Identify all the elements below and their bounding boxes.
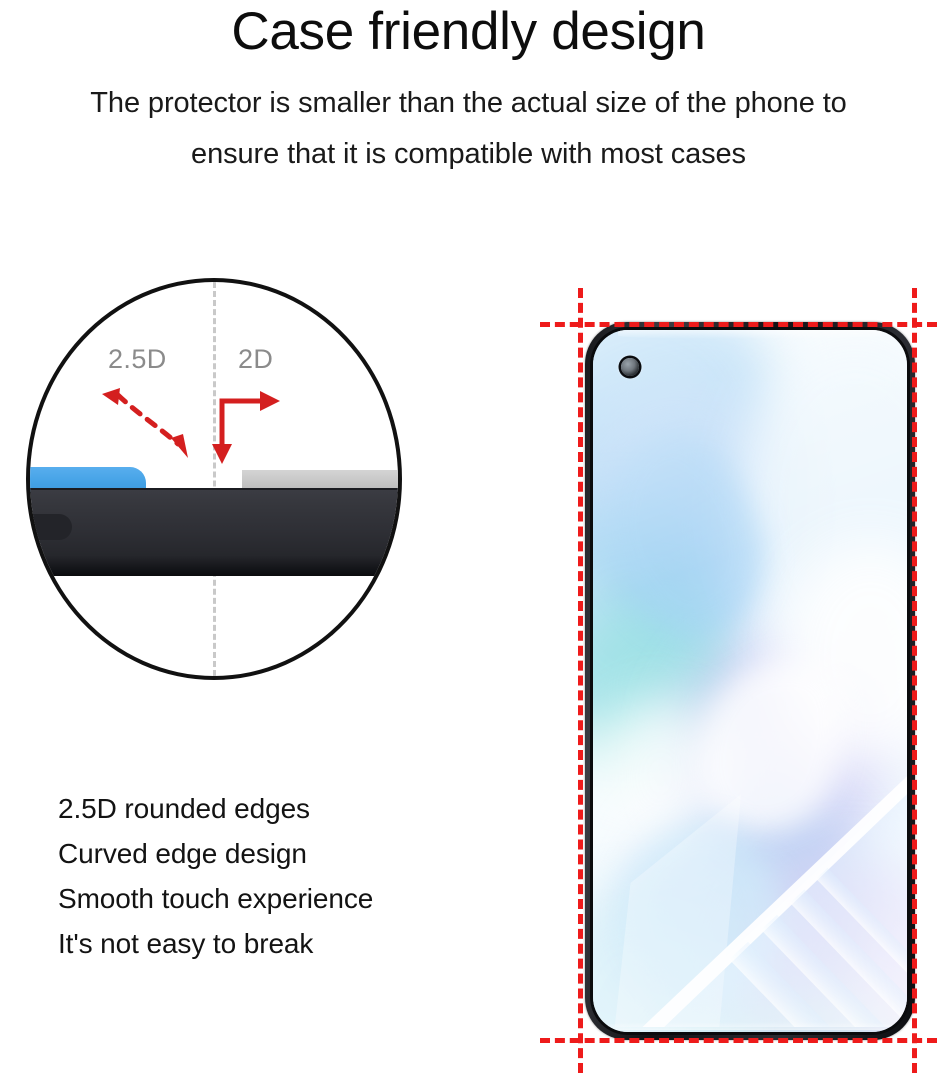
diagram-circle-content bbox=[30, 282, 398, 676]
feature-item: It's not easy to break bbox=[58, 921, 488, 966]
label-2_5d: 2.5D bbox=[108, 344, 167, 375]
header: Case friendly design The protector is sm… bbox=[0, 0, 937, 180]
page-subtitle: The protector is smaller than the actual… bbox=[0, 78, 937, 180]
label-2d: 2D bbox=[238, 344, 273, 375]
edge-comparison-diagram: 2.5D 2D bbox=[26, 278, 402, 680]
earpiece-speaker-slot bbox=[30, 514, 72, 540]
diagram-center-divider bbox=[213, 282, 216, 676]
feature-list: 2.5D rounded edges Curved edge design Sm… bbox=[58, 786, 488, 966]
page-title: Case friendly design bbox=[0, 2, 937, 62]
feature-item: Smooth touch experience bbox=[58, 876, 488, 921]
feature-item: Curved edge design bbox=[58, 831, 488, 876]
front-camera-icon bbox=[621, 358, 639, 376]
phone-edge-body bbox=[30, 490, 398, 576]
top-bezel-sheen bbox=[618, 330, 882, 339]
guide-line-left bbox=[578, 288, 583, 1073]
phone-bezel bbox=[590, 327, 910, 1035]
phone-illustration bbox=[540, 280, 937, 1073]
screen-glint bbox=[593, 330, 907, 1032]
feature-item: 2.5D rounded edges bbox=[58, 786, 488, 831]
phone-body bbox=[585, 322, 915, 1040]
phone-screen bbox=[593, 330, 907, 1032]
bottom-bezel-sheen bbox=[606, 1022, 895, 1030]
infographic-page: Case friendly design The protector is sm… bbox=[0, 0, 937, 1073]
subtitle-line-2: ensure that it is compatible with most c… bbox=[10, 129, 927, 180]
subtitle-line-1: The protector is smaller than the actual… bbox=[10, 78, 927, 129]
